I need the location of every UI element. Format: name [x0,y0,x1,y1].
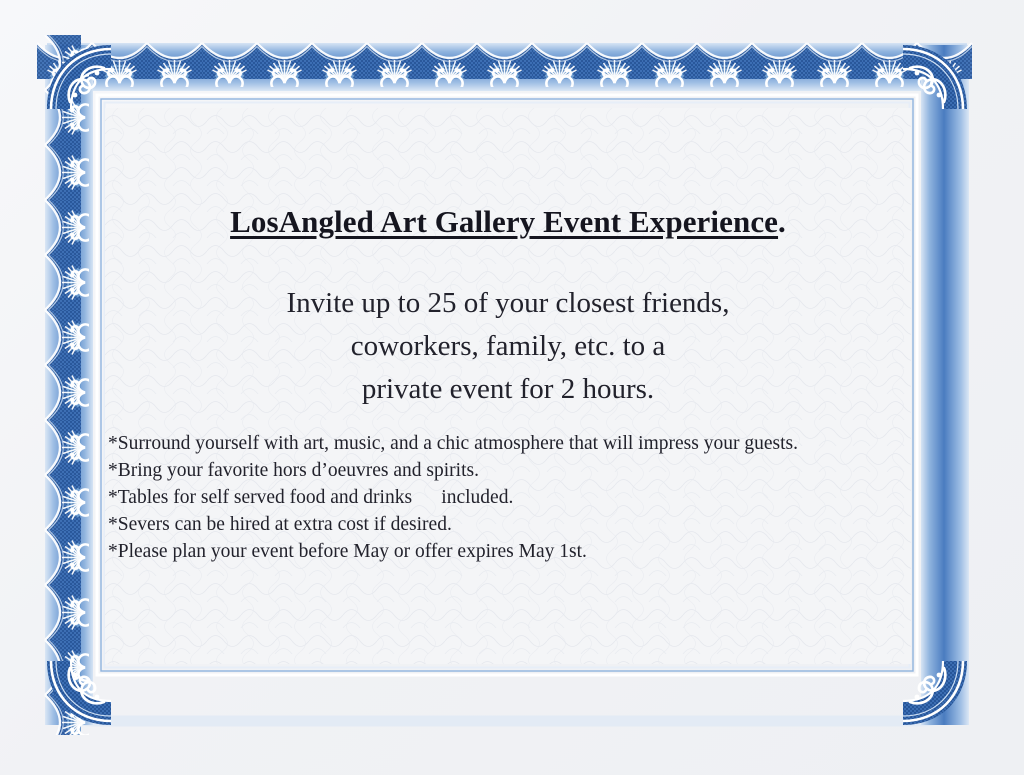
invite-line: Invite up to 25 of your closest friends, [105,282,911,325]
invite-line: coworkers, family, etc. to a [105,325,911,368]
title-block: LosAngled Art Gallery Event Experience. [105,204,911,240]
terms-list: *Surround yourself with art, music, and … [108,430,911,565]
invite-paragraph: Invite up to 25 of your closest friends,… [105,282,911,411]
list-item: *Bring your favorite hors d’oeuvres and … [108,457,911,484]
certificate-plate: LosAngled Art Gallery Event Experience. … [37,35,977,735]
page-title: LosAngled Art Gallery Event Experience. [230,204,786,240]
list-item: *Surround yourself with art, music, and … [108,430,911,457]
list-item: *Please plan your event before May or of… [108,538,911,565]
title-period: . [778,204,786,239]
certificate-paper: LosAngled Art Gallery Event Experience. … [105,108,911,664]
slide-canvas: LosAngled Art Gallery Event Experience. … [0,0,1024,775]
list-item: *Severs can be hired at extra cost if de… [108,511,911,538]
invite-line: private event for 2 hours. [105,368,911,411]
list-item: *Tables for self served food and drinks … [108,484,911,511]
title-underlined-text: LosAngled Art Gallery Event Experience [230,204,778,239]
certificate-content: LosAngled Art Gallery Event Experience. … [105,108,911,664]
